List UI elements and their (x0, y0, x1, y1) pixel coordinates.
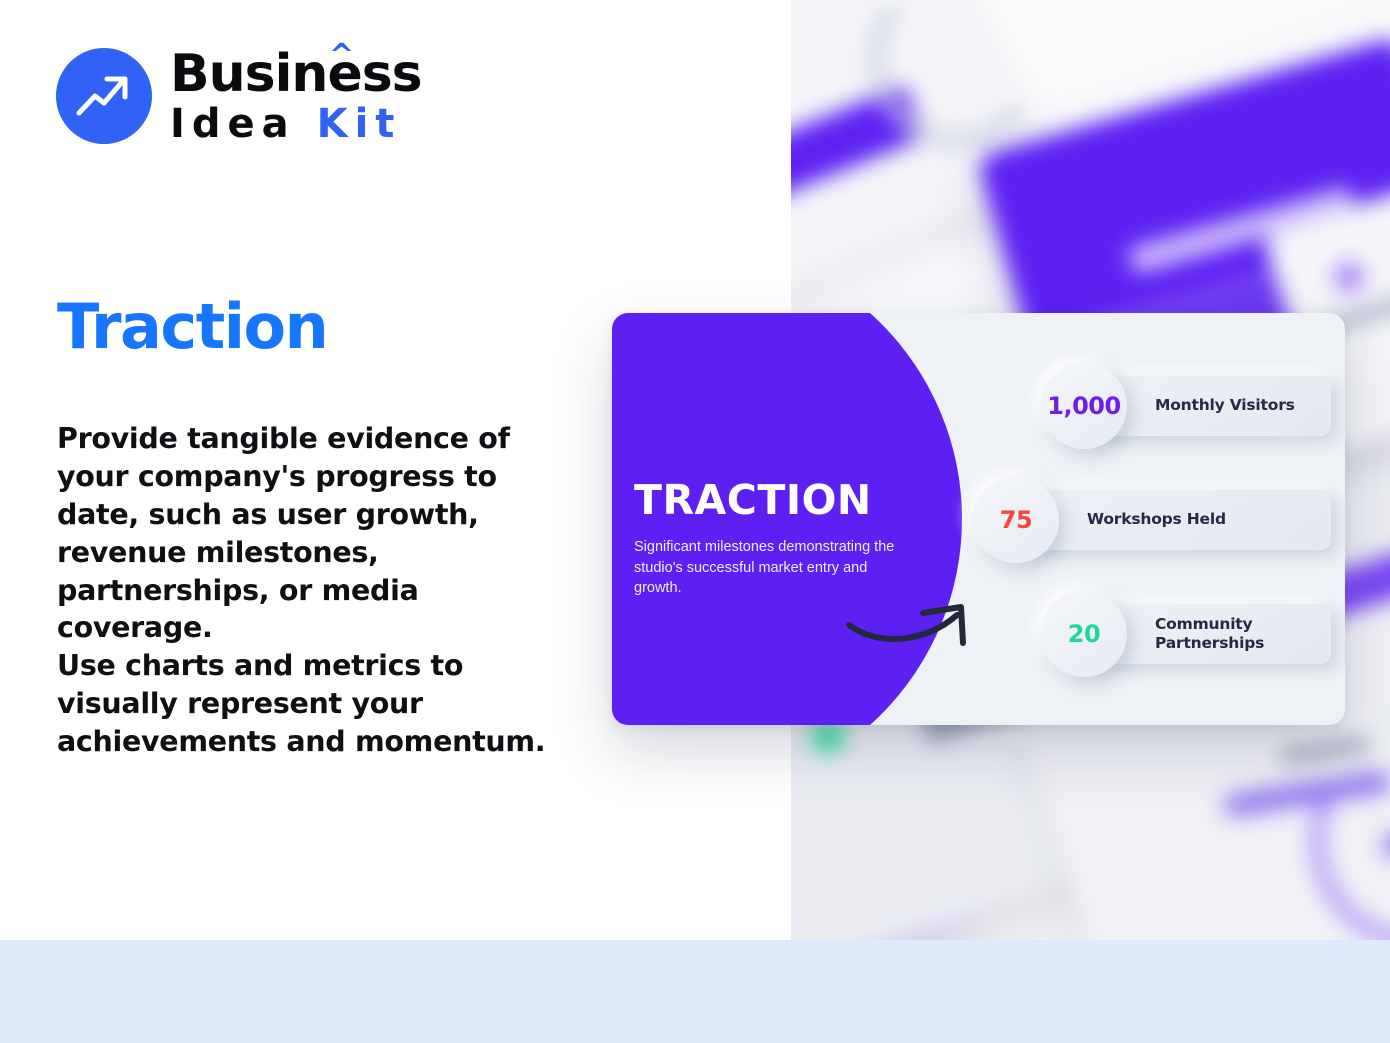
metric-value: 75 (1000, 506, 1032, 534)
metric-row[interactable]: Community Partnerships 20 (1041, 591, 1331, 677)
metric-label: Workshops Held (1087, 510, 1226, 529)
logo-circle (56, 48, 152, 144)
metric-value: 1,000 (1047, 392, 1120, 420)
logo-idea-text: Idea (170, 101, 296, 147)
metric-circle: 20 (1041, 591, 1127, 677)
metric-row[interactable]: Workshops Held 75 (973, 477, 1331, 563)
slide-subtitle: Significant milestones demonstrating the… (634, 537, 896, 599)
metric-label: Community Partnerships (1155, 615, 1331, 654)
logo-business-text: Business (170, 44, 422, 104)
body-paragraph-1: Provide tangible evidence of your compan… (57, 420, 562, 647)
curved-arrow-up-right-icon (845, 595, 1010, 655)
metric-value: 20 (1068, 620, 1100, 648)
bottom-accent-strip (0, 940, 1390, 1043)
metric-circle: 75 (973, 477, 1059, 563)
metric-label: Monthly Visitors (1155, 396, 1295, 415)
brand-logo: Business ^ Idea Kit (56, 48, 422, 144)
logo-word-idea-kit: Idea Kit (170, 104, 422, 144)
body-paragraph-2: Use charts and metrics to visually repre… (57, 647, 562, 761)
logo-wordmark: Business ^ Idea Kit (170, 48, 422, 144)
logo-kit-text: Kit (317, 101, 402, 147)
metric-circle: 1,000 (1041, 363, 1127, 449)
slide-title: TRACTION (634, 476, 872, 524)
traction-slide-card: TRACTION Significant milestones demonstr… (612, 313, 1345, 725)
logo-word-business: Business ^ (170, 48, 422, 100)
metric-pill: Workshops Held (1019, 490, 1331, 550)
logo-caret-icon: ^ (329, 41, 353, 71)
growth-arrow-icon (73, 63, 135, 130)
metrics-list: Monthly Visitors 1,000 Workshops Held 75… (1041, 363, 1331, 705)
mockup-dot-icon (1331, 259, 1366, 294)
slide-page: Business ^ Idea Kit Traction Provide tan… (0, 0, 1390, 1043)
metric-row[interactable]: Monthly Visitors 1,000 (1041, 363, 1331, 449)
page-title: Traction (57, 294, 327, 359)
